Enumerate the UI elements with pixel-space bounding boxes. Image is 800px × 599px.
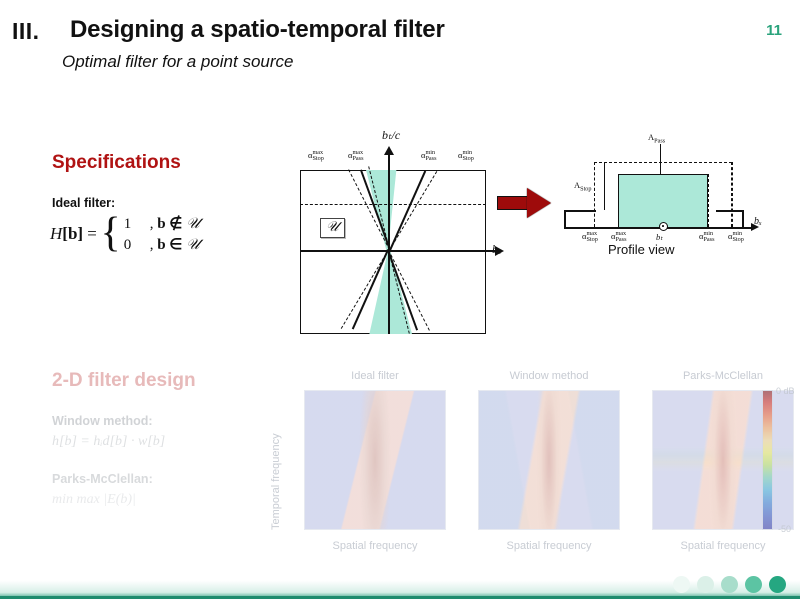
profile-divider-pass-max bbox=[618, 174, 619, 227]
heatmap-window-method bbox=[478, 390, 620, 530]
arrow-head bbox=[527, 188, 551, 218]
progress-dot-2 bbox=[697, 576, 714, 593]
progress-dot-4 bbox=[745, 576, 762, 593]
progress-dot-5 bbox=[769, 576, 786, 593]
profile-a-stop-arrow bbox=[604, 162, 605, 210]
ghost-parks-mcclellan-formula: min max |E(b)| bbox=[52, 492, 136, 508]
case2-condition: b ∈ bbox=[157, 237, 182, 253]
case1-value: 1 bbox=[124, 216, 150, 233]
progress-dot-1 bbox=[673, 576, 690, 593]
page-number: 11 bbox=[766, 22, 782, 39]
profile-origin-marker bbox=[659, 222, 668, 231]
progress-dots bbox=[673, 576, 786, 593]
ideal-filter-label: Ideal filter: bbox=[52, 196, 115, 210]
frequency-domain-diagram: bₜ/c bₓ 𝒰 αmaxStop αmaxPass αminPass αmi… bbox=[296, 122, 506, 337]
case2-set: 𝒰 bbox=[186, 237, 200, 253]
arrow-shaft bbox=[497, 196, 529, 210]
ghost-parks-mcclellan-label: Parks-McClellan: bbox=[52, 472, 153, 486]
formula-case-1: 1 , b ∉ 𝒰 bbox=[124, 214, 200, 233]
profile-x-axis-label: bₓ bbox=[754, 216, 762, 227]
formula-equals: = bbox=[86, 224, 97, 244]
figure-title-ideal-filter: Ideal filter bbox=[304, 370, 446, 382]
figure-panel-window-method: Window method Spatial frequency bbox=[478, 390, 620, 530]
profile-label-alpha-stop-max: αmaxStop bbox=[582, 231, 598, 243]
ghost-heading-2d-filter-design: 2-D filter design bbox=[52, 370, 196, 392]
figure-xlabel-window-method: Spatial frequency bbox=[478, 540, 620, 552]
specifications-heading: Specifications bbox=[52, 152, 181, 174]
ghost-window-method-label: Window method: bbox=[52, 414, 153, 428]
figure-title-window-method: Window method bbox=[478, 370, 620, 382]
colorbar-max-label: 0 dB bbox=[776, 386, 795, 396]
colorbar-min-label: -50 bbox=[778, 524, 791, 534]
red-right-arrow-icon bbox=[497, 188, 553, 218]
diagram-label-alpha-stop-max: αmaxStop bbox=[308, 150, 324, 162]
profile-x-axis bbox=[564, 227, 752, 229]
heatmap-ideal-filter bbox=[304, 390, 446, 530]
colorbar bbox=[762, 390, 773, 530]
figures-y-axis-label: Temporal frequency bbox=[270, 433, 282, 530]
slide: III. Designing a spatio-temporal filter … bbox=[0, 0, 800, 599]
figure-xlabel-parks-mcclellan: Spatial frequency bbox=[652, 540, 794, 552]
profile-view-caption: Profile view bbox=[608, 242, 674, 257]
profile-divider-stop-min bbox=[732, 162, 733, 227]
ideal-filter-formula: H[b] = { 1 , b ∉ 𝒰 0 , b ∈ 𝒰 bbox=[50, 214, 200, 254]
profile-view-diagram: APass AStop αmaxStop αmaxPass bₜ αminPas… bbox=[556, 130, 771, 270]
page-subtitle: Optimal filter for a point source bbox=[62, 52, 293, 72]
figure-title-parks-mcclellan: Parks-McClellan bbox=[652, 370, 794, 382]
diagram-x-axis bbox=[300, 250, 496, 252]
profile-label-alpha-stop-min: αminStop bbox=[728, 231, 744, 243]
profile-divider-pass-min bbox=[708, 174, 709, 227]
profile-a-pass-label: APass bbox=[648, 132, 665, 145]
case1-set: 𝒰 bbox=[186, 216, 200, 232]
profile-divider-stop-max bbox=[594, 162, 595, 227]
profile-right-step bbox=[742, 210, 744, 228]
figure-panel-ideal-filter: Ideal filter Spatial frequency bbox=[304, 390, 446, 530]
case2-value: 0 bbox=[124, 237, 150, 254]
diagram-y-axis-label: bₜ/c bbox=[382, 128, 400, 143]
profile-a-stop-label: AStop bbox=[574, 180, 592, 193]
profile-a-pass-arrow bbox=[660, 144, 661, 174]
figure-xlabel-ideal-filter: Spatial frequency bbox=[304, 540, 446, 552]
diagram-x-axis-label: bₓ bbox=[492, 242, 501, 257]
formula-brace: { bbox=[101, 215, 121, 251]
profile-right-step-top bbox=[716, 210, 744, 212]
diagram-label-alpha-stop-min: αminStop bbox=[458, 150, 474, 162]
formula-lhs-arg: [b] bbox=[62, 224, 83, 243]
filter-response-figures: Temporal frequency Ideal filter Spatial … bbox=[276, 362, 800, 562]
formula-case-2: 0 , b ∈ 𝒰 bbox=[124, 235, 200, 254]
profile-left-step-top bbox=[564, 210, 596, 212]
diagram-label-alpha-pass-min: αminPass bbox=[421, 150, 436, 162]
formula-lhs: H bbox=[50, 224, 62, 243]
progress-dot-3 bbox=[721, 576, 738, 593]
profile-label-alpha-pass-min: αminPass bbox=[699, 231, 714, 243]
case1-condition: b ∉ bbox=[157, 216, 182, 232]
page-title: Designing a spatio-temporal filter bbox=[70, 16, 445, 44]
ghost-window-method-formula: h[b] = hᵢd[b] · w[b] bbox=[52, 434, 165, 450]
region-u-label: 𝒰 bbox=[320, 218, 345, 238]
profile-left-step bbox=[564, 210, 566, 228]
diagram-dashed-horizontal bbox=[300, 204, 486, 205]
diagram-label-alpha-pass-max: αmaxPass bbox=[348, 150, 363, 162]
section-number: III. bbox=[12, 18, 40, 45]
profile-inner-response bbox=[618, 174, 708, 227]
